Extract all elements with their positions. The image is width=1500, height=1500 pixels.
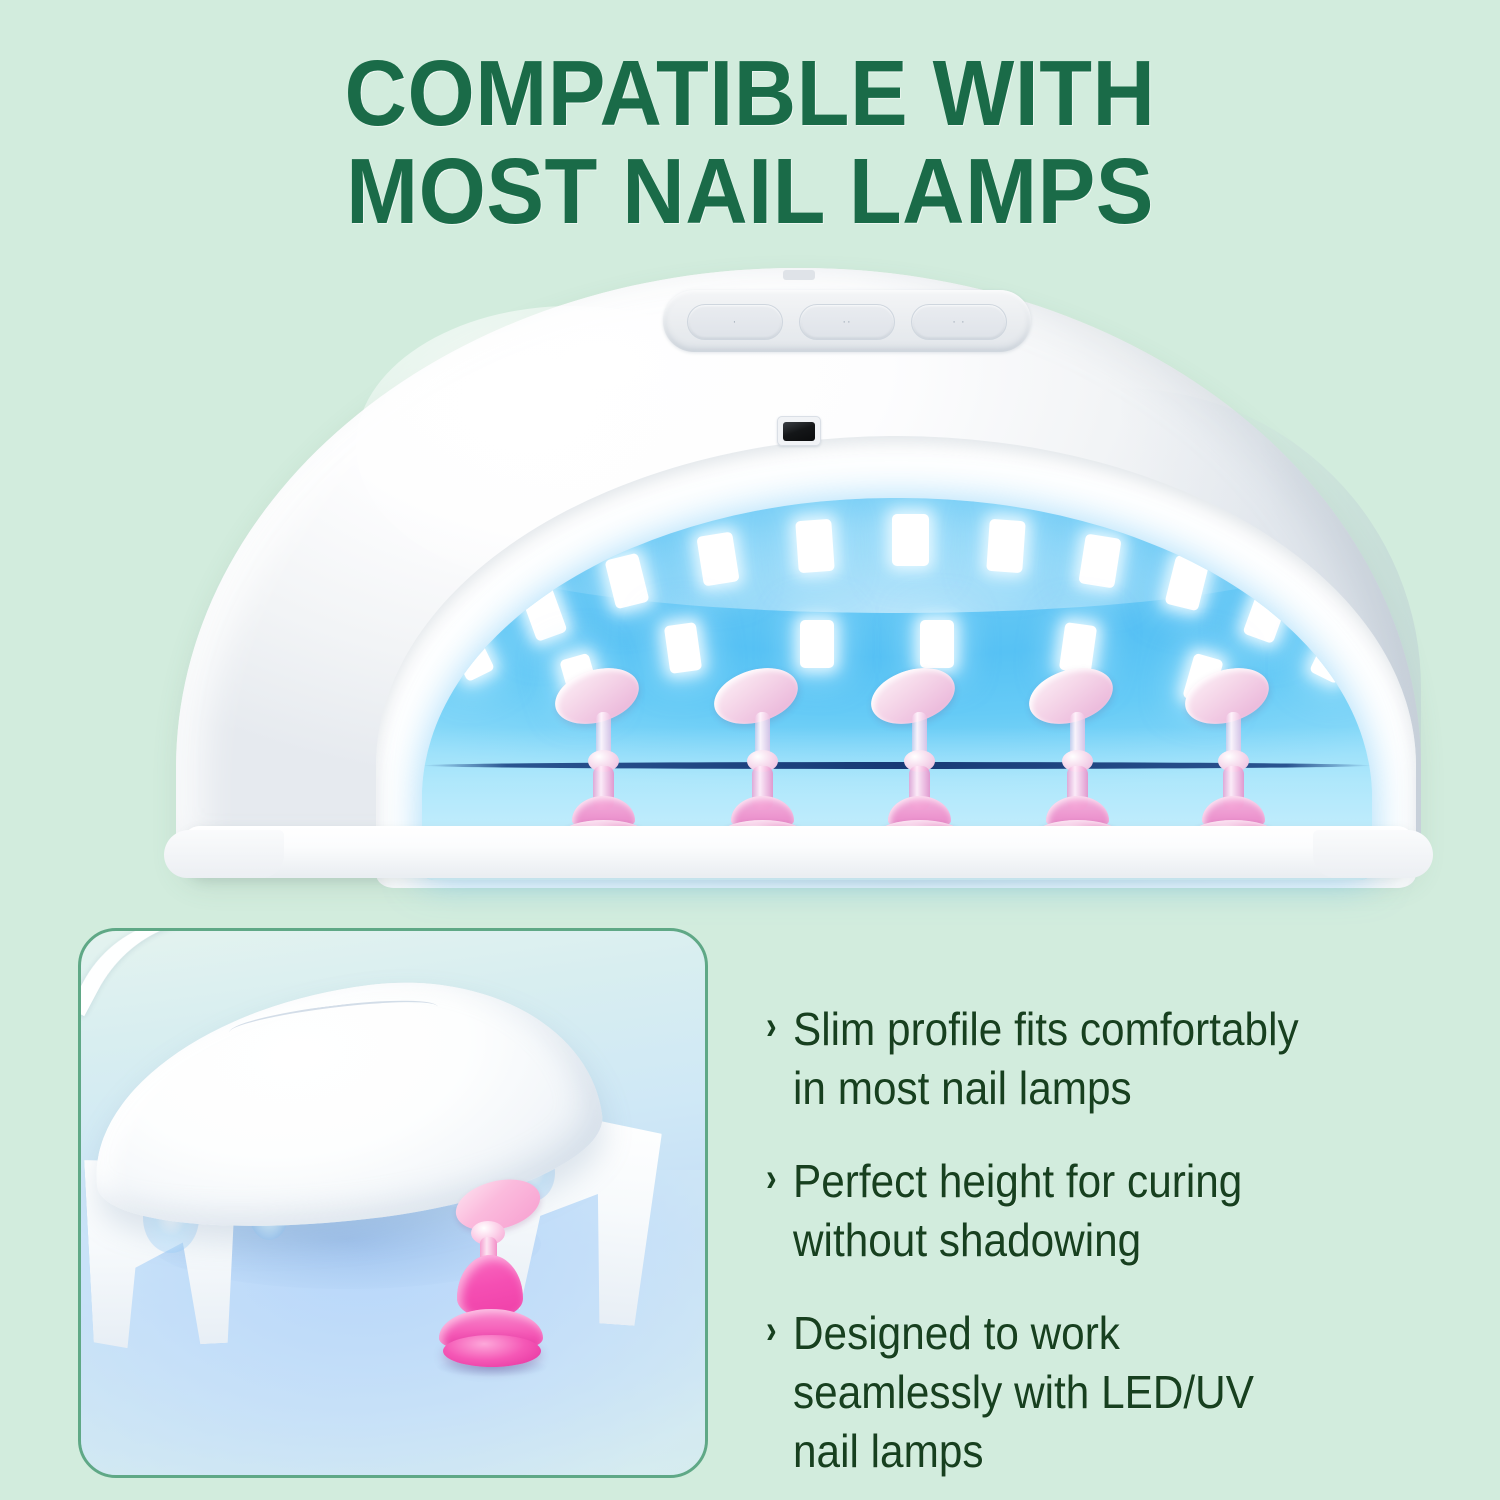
mode-button[interactable]: · · [911,304,1007,340]
led-light [1078,533,1121,588]
nail-stand [709,670,817,852]
timer-button-glyph: ·· [842,316,851,328]
chevron-right-icon: › [766,1000,777,1052]
curing-chamber [422,498,1372,880]
nail-stand [550,670,658,852]
power-button[interactable]: · [687,304,783,340]
led-light [800,620,834,668]
inset-stand-foot [443,1335,541,1367]
nail-stand [1024,670,1132,852]
mode-button-glyph: · · [952,316,965,328]
lamp-base-lip [182,826,1415,878]
led-light [892,514,929,566]
led-light [520,584,567,642]
motion-sensor [777,416,821,446]
inset-product-photo [78,928,708,1478]
nail-stand [1180,670,1288,852]
feature-item-text: Designed to work seamlessly with LED/UV … [793,1304,1254,1481]
led-light [664,622,702,674]
lamp-outer-shell: · ·· · · [176,268,1421,878]
feature-item: › Slim profile fits comfortably in most … [766,1000,1466,1118]
feature-item-text: Slim profile fits comfortably in most na… [793,1000,1299,1118]
feature-item-text: Perfect height for curing without shadow… [793,1152,1242,1270]
page-title: COMPATIBLE WITH MOST NAIL LAMPS [53,44,1448,240]
led-light [986,519,1026,573]
led-light [795,519,835,573]
lamp-top-nub [783,270,815,280]
feature-item: › Perfect height for curing without shad… [766,1152,1466,1270]
led-light [696,531,739,586]
timer-button[interactable]: ·· [799,304,895,340]
control-panel: · ·· · · [663,290,1031,352]
lamp-foot-left [164,830,284,878]
power-button-glyph: · [733,316,738,328]
inset-stand-bell [457,1255,523,1317]
led-light [920,620,954,668]
inset-nail-stand [433,1181,553,1381]
led-light [1164,555,1209,612]
page-title-line-2: MOST NAIL LAMPS [53,142,1448,240]
chevron-right-icon: › [766,1152,777,1204]
sensor-lens [783,422,815,441]
feature-list: › Slim profile fits comfortably in most … [766,1000,1466,1481]
led-light [1059,622,1097,674]
chevron-right-icon: › [766,1304,777,1356]
lamp-foot-right [1313,830,1433,878]
page-title-line-1: COMPATIBLE WITH [345,41,1156,145]
hero-product-image: · ·· · · [78,258,1423,908]
feature-item: › Designed to work seamlessly with LED/U… [766,1304,1466,1481]
nail-stand [866,670,974,852]
led-light [604,553,649,610]
